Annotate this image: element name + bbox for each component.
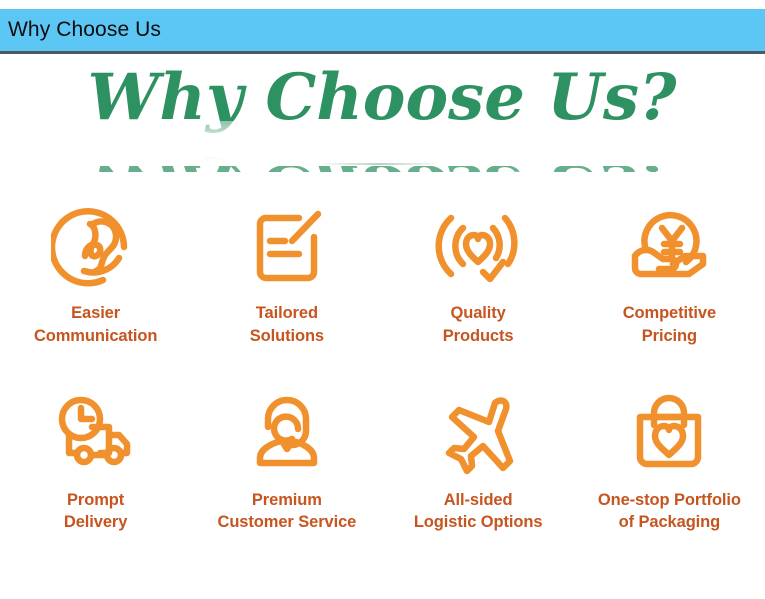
page-content: Why Choose Us? <box>0 57 765 599</box>
document-pencil-icon <box>239 197 335 293</box>
hand-yen-coin-icon <box>621 197 717 293</box>
hero-title-block: Why Choose Us? <box>0 57 765 172</box>
hero-title-graphic: Why Choose Us? <box>0 57 765 172</box>
airplane-icon <box>430 384 526 480</box>
feature-label: Prompt Delivery <box>64 489 127 535</box>
feature-item-tailored-solutions[interactable]: Tailored Solutions <box>191 197 382 348</box>
feature-row-1: Easier Communication Tailored Solutions <box>0 197 765 348</box>
headset-agent-icon <box>239 384 335 480</box>
feature-item-one-stop-portfolio-of-packaging[interactable]: One-stop Portfolio of Packaging <box>574 384 765 535</box>
feature-label: Tailored Solutions <box>250 302 324 348</box>
hero-divider <box>323 163 437 165</box>
feature-row-2: Prompt Delivery Premium Customer Service <box>0 384 765 535</box>
ear-listening-icon <box>48 197 144 293</box>
feature-item-competitive-pricing[interactable]: Competitive Pricing <box>574 197 765 348</box>
feature-label: Premium Customer Service <box>218 489 357 535</box>
shopping-bag-heart-icon <box>621 384 717 480</box>
feature-item-all-sided-logistic-options[interactable]: All-sided Logistic Options <box>383 384 574 535</box>
feature-label: Competitive Pricing <box>623 302 716 348</box>
feature-label: One-stop Portfolio of Packaging <box>598 489 741 535</box>
feature-label: Quality Products <box>443 302 514 348</box>
feature-label: Easier Communication <box>34 302 157 348</box>
feature-item-premium-customer-service[interactable]: Premium Customer Service <box>191 384 382 535</box>
feature-label: All-sided Logistic Options <box>414 489 543 535</box>
feature-item-easier-communication[interactable]: Easier Communication <box>0 197 191 348</box>
window-title: Why Choose Us <box>0 18 161 42</box>
feature-item-prompt-delivery[interactable]: Prompt Delivery <box>0 384 191 535</box>
window-header-bar: Why Choose Us <box>0 9 765 54</box>
heart-waves-check-icon <box>430 197 526 293</box>
feature-grid: Easier Communication Tailored Solutions <box>0 197 765 534</box>
feature-item-quality-products[interactable]: Quality Products <box>383 197 574 348</box>
truck-clock-icon <box>48 384 144 480</box>
